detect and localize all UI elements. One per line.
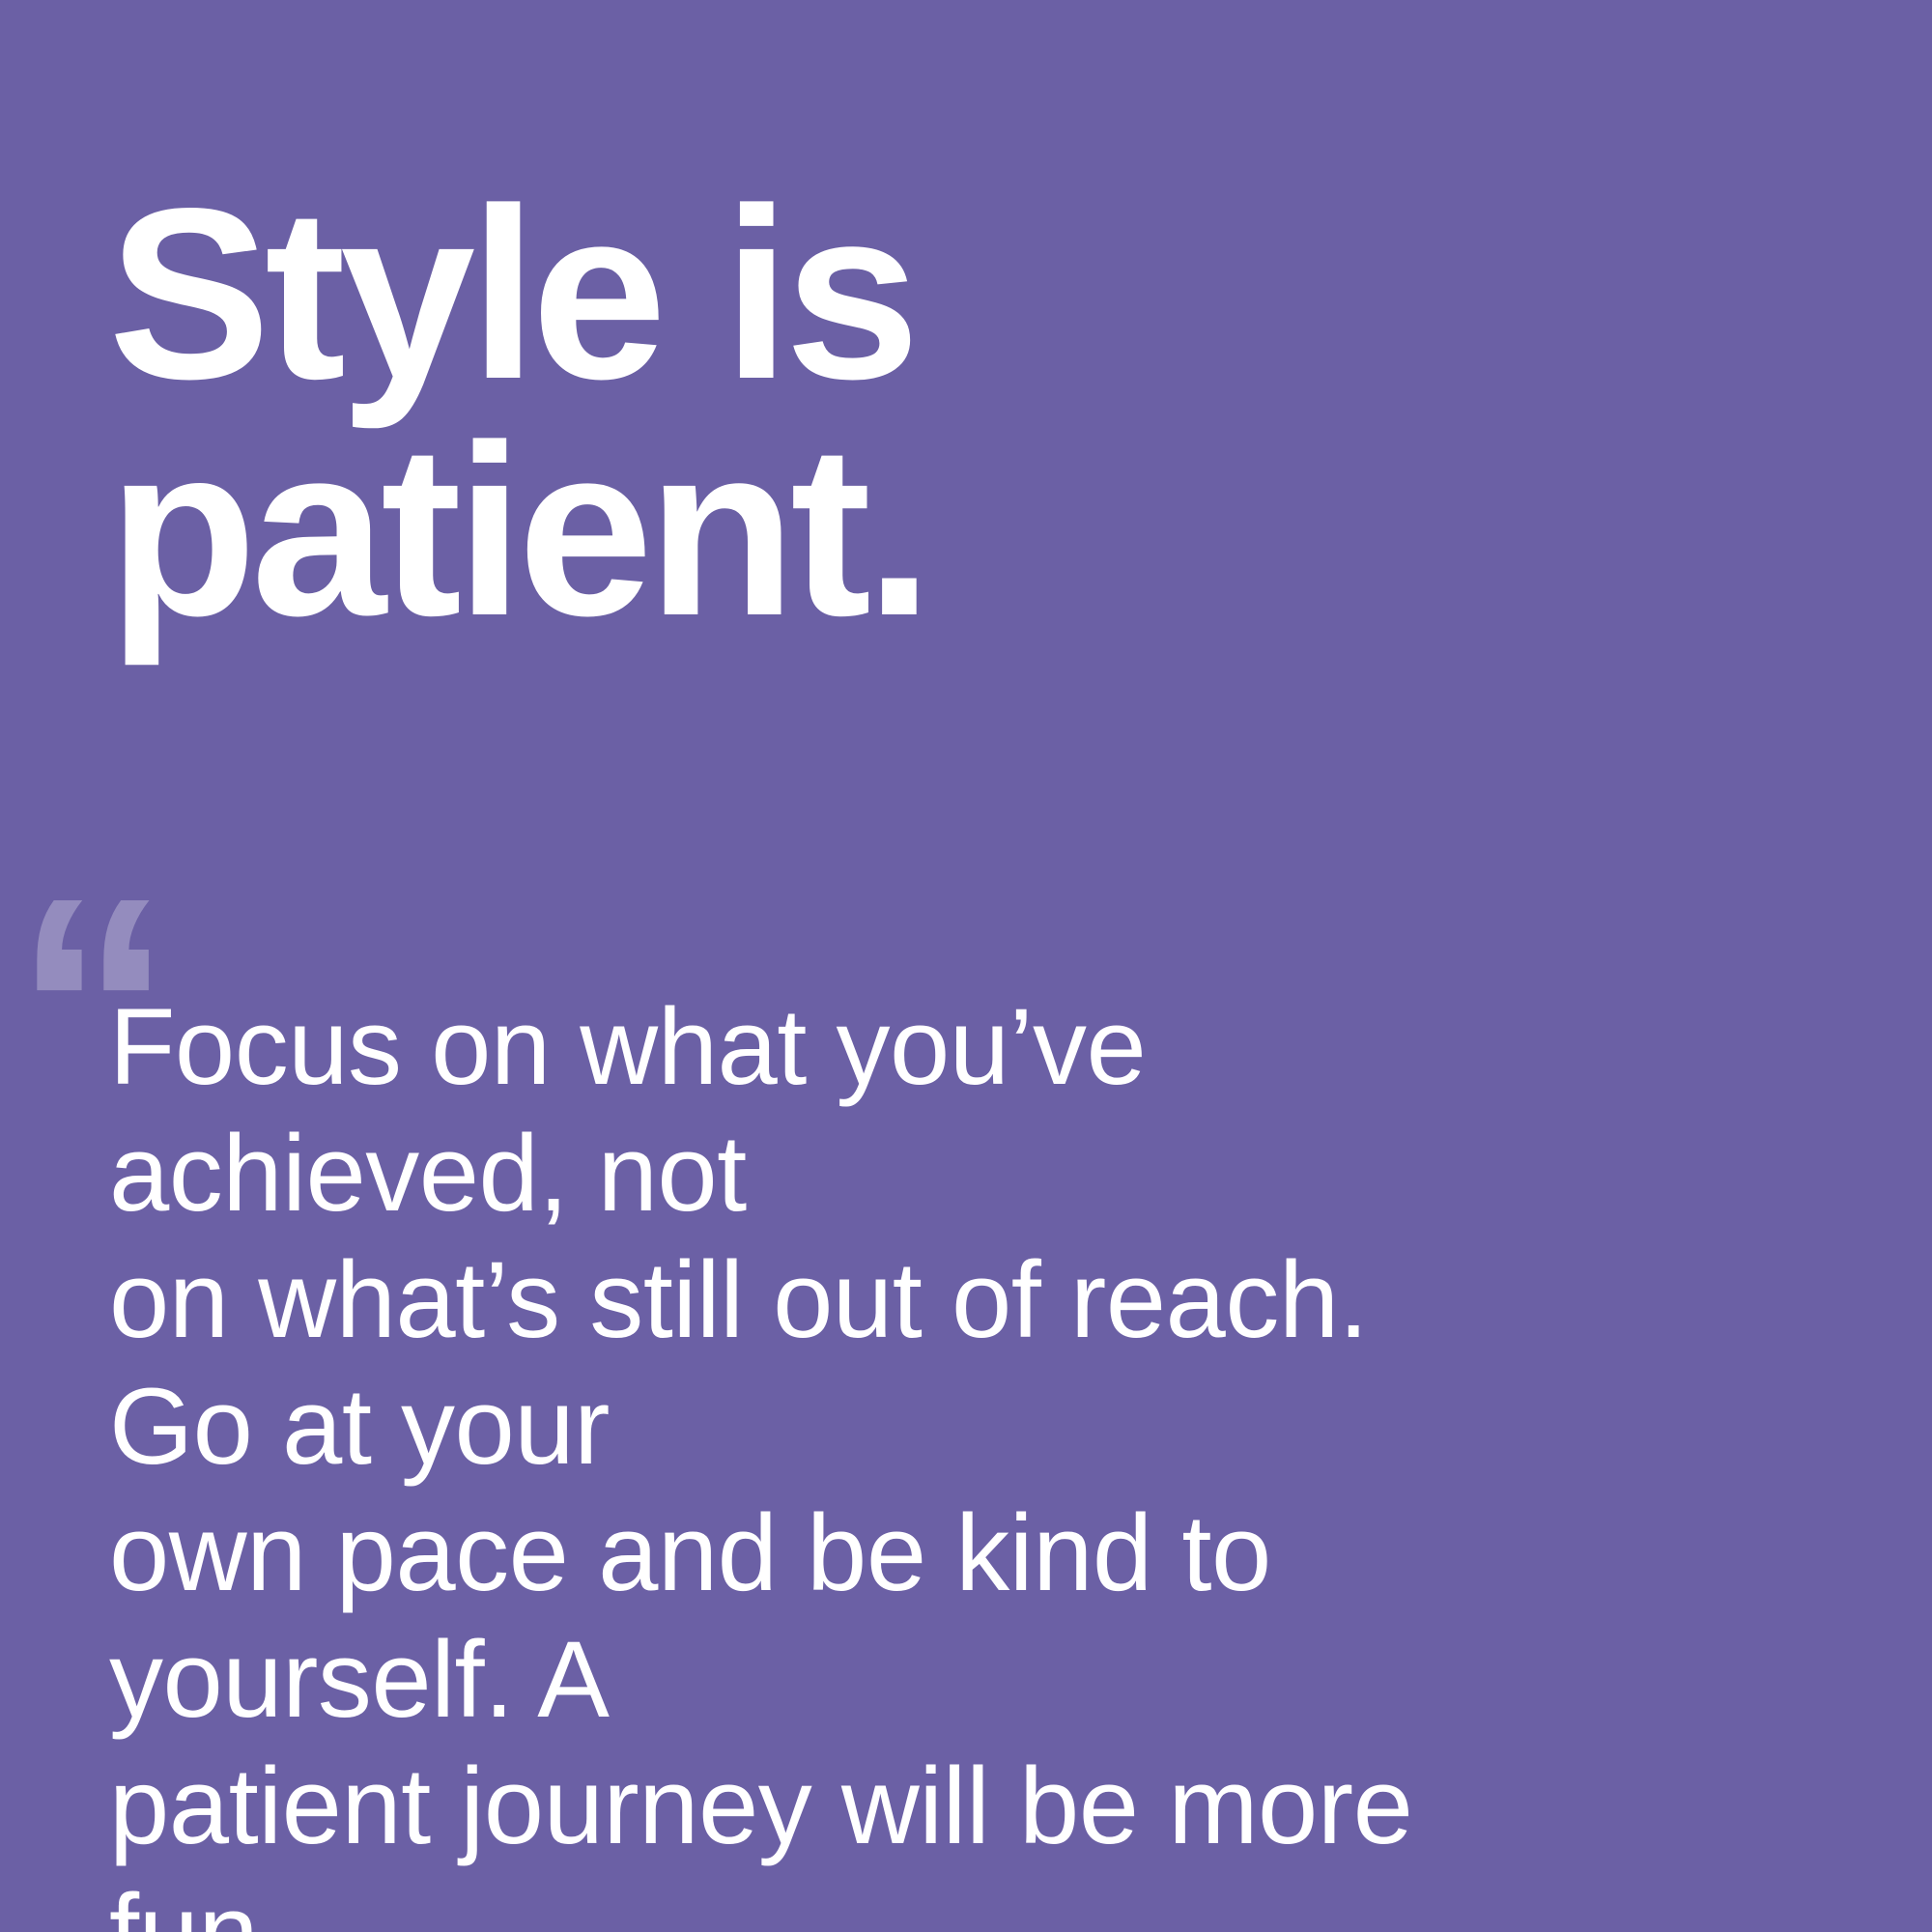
quote-card: Style is patient. “ Focus on what you’ve… <box>0 0 1932 1932</box>
page-title: Style is patient. <box>108 176 1171 649</box>
quote-body-block: Focus on what you’ve achieved, not on wh… <box>109 983 1462 1932</box>
quote-body-text: Focus on what you’ve achieved, not on wh… <box>109 983 1462 1932</box>
headline-block: Style is patient. <box>108 176 1171 649</box>
